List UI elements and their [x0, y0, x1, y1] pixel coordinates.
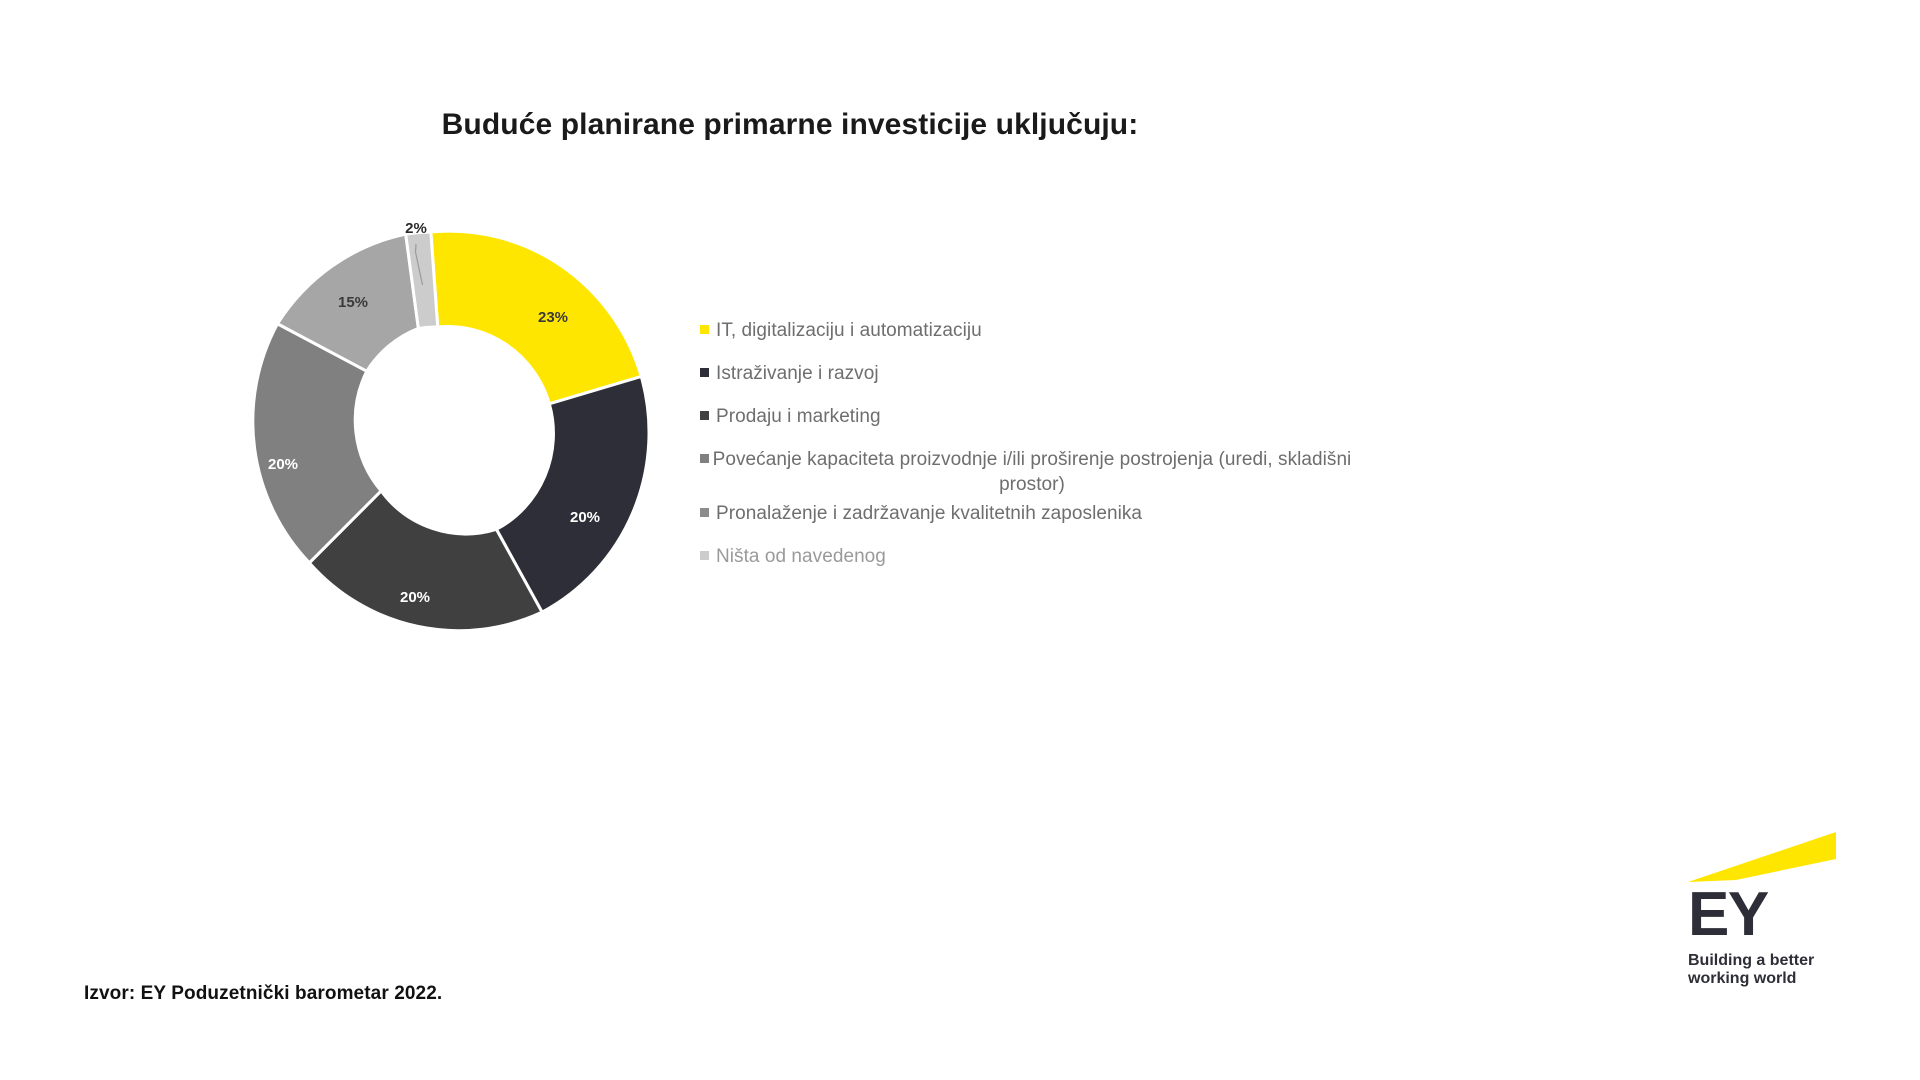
- legend-item-it-digitalizaciju[interactable]: IT, digitalizaciju i automatizaciju: [700, 318, 1360, 343]
- page-title: Buduće planirane primarne investicije uk…: [0, 108, 1580, 142]
- slice-label-darkgray-20: 20%: [400, 589, 430, 606]
- legend-item-povecanje-kapaciteta[interactable]: Povećanje kapaciteta proizvodnje i/ili p…: [700, 447, 1360, 497]
- donut-chart-svg: 23% 20% 20% 20% 15% 2%: [240, 222, 660, 647]
- ey-beam-icon: [1688, 832, 1838, 884]
- legend-swatch-icon: [700, 368, 709, 377]
- slice-it-digitalizaciju[interactable]: [431, 231, 641, 404]
- legend-item-label: IT, digitalizaciju i automatizaciju: [716, 318, 982, 343]
- slice-label-navy-20: 20%: [570, 509, 600, 526]
- legend-item-label: Ništa od navedenog: [716, 544, 886, 569]
- ey-tagline: Building a better working world: [1688, 952, 1878, 988]
- legend-item-istrazivanje-i-razvoj[interactable]: Istraživanje i razvoj: [700, 361, 1360, 386]
- slice-label-tiny-2: 2%: [405, 220, 427, 237]
- legend-item-label: Istraživanje i razvoj: [716, 361, 879, 386]
- legend-swatch-icon: [700, 508, 709, 517]
- legend-item-label: Pronalaženje i zadržavanje kvalitetnih z…: [716, 501, 1142, 526]
- donut-chart: 23% 20% 20% 20% 15% 2%: [240, 222, 660, 647]
- legend-item-prodaju-i-marketing[interactable]: Prodaju i marketing: [700, 404, 1360, 429]
- legend-item-label: Prodaju i marketing: [716, 404, 881, 429]
- slice-label-midgray-20: 20%: [268, 456, 298, 473]
- legend-item-nista-od-navedenog[interactable]: Ništa od navedenog: [700, 544, 1360, 569]
- chart-legend: IT, digitalizaciju i automatizaciju Istr…: [700, 318, 1360, 588]
- legend-swatch-icon: [700, 551, 709, 560]
- legend-item-label: Povećanje kapaciteta proizvodnje i/ili p…: [712, 447, 1352, 497]
- legend-swatch-icon: [700, 325, 709, 334]
- legend-item-pronalazenje-zaposlenika[interactable]: Pronalaženje i zadržavanje kvalitetnih z…: [700, 501, 1360, 526]
- ey-logo: EY Building a better working world: [1688, 832, 1878, 992]
- slice-label-23: 23%: [538, 309, 568, 326]
- source-note: Izvor: EY Poduzetnički barometar 2022.: [84, 983, 442, 1005]
- legend-swatch-icon: [700, 411, 709, 420]
- legend-swatch-icon: [700, 454, 709, 463]
- slice-label-lightgray-15: 15%: [338, 294, 368, 311]
- ey-wordmark: EY: [1688, 886, 1878, 945]
